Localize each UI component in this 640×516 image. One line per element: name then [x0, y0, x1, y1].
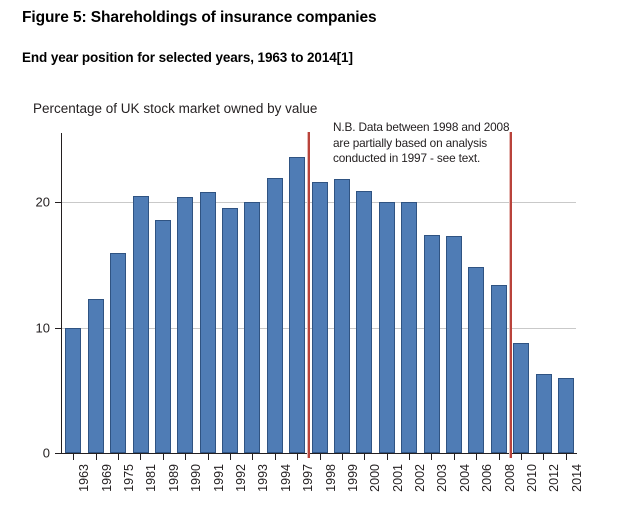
- x-tick-label-2001: 2001: [392, 464, 405, 492]
- y-tick-20: [55, 202, 62, 203]
- x-tick-1969: [96, 454, 97, 460]
- x-tick-label-2006: 2006: [481, 464, 494, 492]
- x-tick-2008: [499, 454, 500, 460]
- bar-2012: [536, 374, 552, 453]
- x-tick-2010: [521, 454, 522, 460]
- bar-1990: [177, 197, 193, 453]
- bar-1989: [155, 220, 171, 453]
- bar-1975: [110, 253, 126, 453]
- x-tick-label-2003: 2003: [436, 464, 449, 492]
- figure-page: Figure 5: Shareholdings of insurance com…: [0, 0, 640, 516]
- x-tick-2006: [476, 454, 477, 460]
- bar-2000: [356, 191, 372, 453]
- y-tick-label-0: 0: [43, 446, 50, 461]
- x-tick-2003: [431, 454, 432, 460]
- x-tick-label-1997: 1997: [302, 464, 315, 492]
- x-tick-label-1981: 1981: [145, 464, 158, 492]
- x-tick-label-1992: 1992: [235, 464, 248, 492]
- x-tick-label-1990: 1990: [190, 464, 203, 492]
- bar-1969: [88, 299, 104, 453]
- x-tick-1990: [185, 454, 186, 460]
- bar-2004: [446, 236, 462, 453]
- y-tick-label-wrap-0: 0: [0, 453, 50, 454]
- bar-2008: [491, 285, 507, 453]
- y-tick-label-20: 20: [36, 195, 50, 210]
- bar-2001: [379, 202, 395, 453]
- x-tick-label-1998: 1998: [325, 464, 338, 492]
- x-tick-2014: [566, 454, 567, 460]
- x-tick-label-1963: 1963: [78, 464, 91, 492]
- x-tick-2001: [387, 454, 388, 460]
- x-tick-1975: [118, 454, 119, 460]
- x-tick-label-2002: 2002: [414, 464, 427, 492]
- bar-chart: 01020 1963196919751981198919901991199219…: [0, 0, 640, 516]
- x-tick-2012: [543, 454, 544, 460]
- bar-1992: [222, 208, 238, 453]
- bar-1991: [200, 192, 216, 453]
- x-tick-label-2004: 2004: [459, 464, 472, 492]
- y-tick-label-wrap-20: 20: [0, 202, 50, 203]
- x-tick-1997: [297, 454, 298, 460]
- bar-2014: [558, 378, 574, 453]
- x-tick-1994: [275, 454, 276, 460]
- x-tick-label-2012: 2012: [548, 464, 561, 492]
- x-tick-label-1991: 1991: [213, 464, 226, 492]
- x-tick-1993: [252, 454, 253, 460]
- x-tick-1999: [342, 454, 343, 460]
- y-tick-label-10: 10: [36, 321, 50, 336]
- y-axis-line: [61, 133, 62, 454]
- bar-1993: [244, 202, 260, 453]
- bar-2003: [424, 235, 440, 453]
- x-tick-1989: [163, 454, 164, 460]
- x-tick-1963: [73, 454, 74, 460]
- x-tick-label-2010: 2010: [526, 464, 539, 492]
- x-tick-label-1994: 1994: [280, 464, 293, 492]
- x-tick-label-2000: 2000: [369, 464, 382, 492]
- y-tick-label-wrap-10: 10: [0, 328, 50, 329]
- bar-2002: [401, 202, 417, 453]
- bar-1999: [334, 179, 350, 453]
- bar-1981: [133, 196, 149, 453]
- bar-1998: [312, 182, 328, 453]
- marker-line-2008: [509, 132, 512, 458]
- bar-1997: [289, 157, 305, 453]
- x-tick-1991: [208, 454, 209, 460]
- x-tick-label-1993: 1993: [257, 464, 270, 492]
- y-tick-0: [55, 453, 62, 454]
- chart-annotation-note: N.B. Data between 1998 and 2008 are part…: [333, 120, 509, 167]
- x-tick-2002: [409, 454, 410, 460]
- x-tick-1998: [320, 454, 321, 460]
- x-tick-label-1975: 1975: [123, 464, 136, 492]
- x-tick-label-2008: 2008: [504, 464, 517, 492]
- bar-1994: [267, 178, 283, 453]
- x-tick-label-1989: 1989: [168, 464, 181, 492]
- x-tick-label-2014: 2014: [571, 464, 584, 492]
- x-tick-label-1969: 1969: [101, 464, 114, 492]
- x-tick-1992: [230, 454, 231, 460]
- bar-2006: [468, 267, 484, 453]
- bar-1963: [65, 328, 81, 453]
- x-tick-2000: [364, 454, 365, 460]
- marker-line-1997: [307, 132, 310, 458]
- x-tick-label-1999: 1999: [347, 464, 360, 492]
- bar-2010: [513, 343, 529, 453]
- x-tick-2004: [454, 454, 455, 460]
- x-tick-1981: [140, 454, 141, 460]
- y-tick-10: [55, 328, 62, 329]
